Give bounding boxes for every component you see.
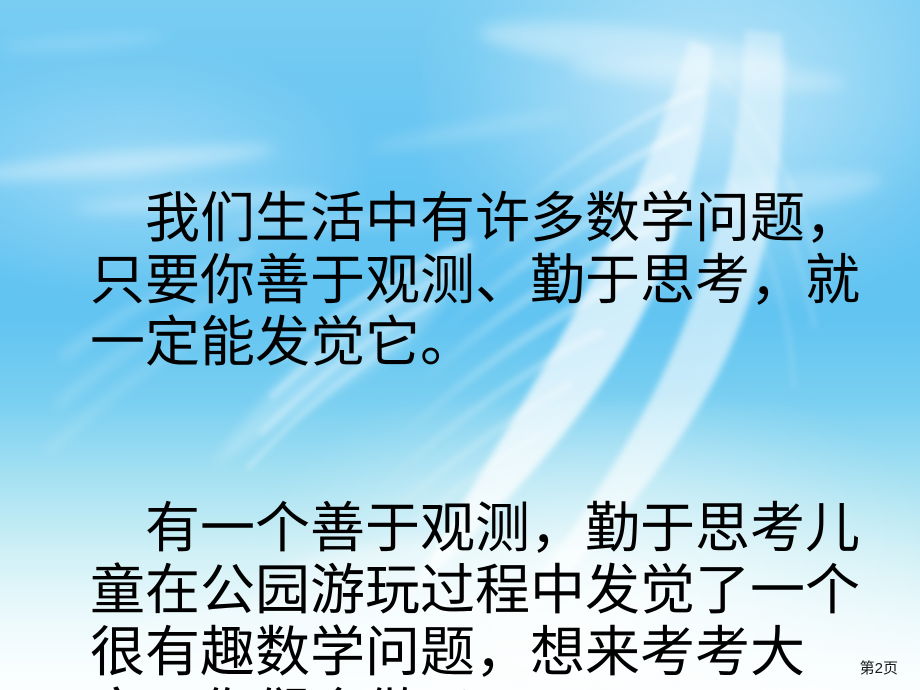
slide-canvas: 我们生活中有许多数学问题，只要你善于观测、勤于思考，就一定能发觉它。 有一个善于… [0, 0, 920, 690]
body-paragraph-1: 我们生活中有许多数学问题，只要你善于观测、勤于思考，就一定能发觉它。 [90, 188, 900, 374]
body-paragraph-2: 有一个善于观测，勤于思考儿童在公园游玩过程中发觉了一个很有趣数学问题，想来考考大… [90, 498, 900, 690]
page-number-footer: 第2页 [860, 660, 898, 678]
slide-body-text: 我们生活中有许多数学问题，只要你善于观测、勤于思考，就一定能发觉它。 有一个善于… [90, 64, 900, 690]
